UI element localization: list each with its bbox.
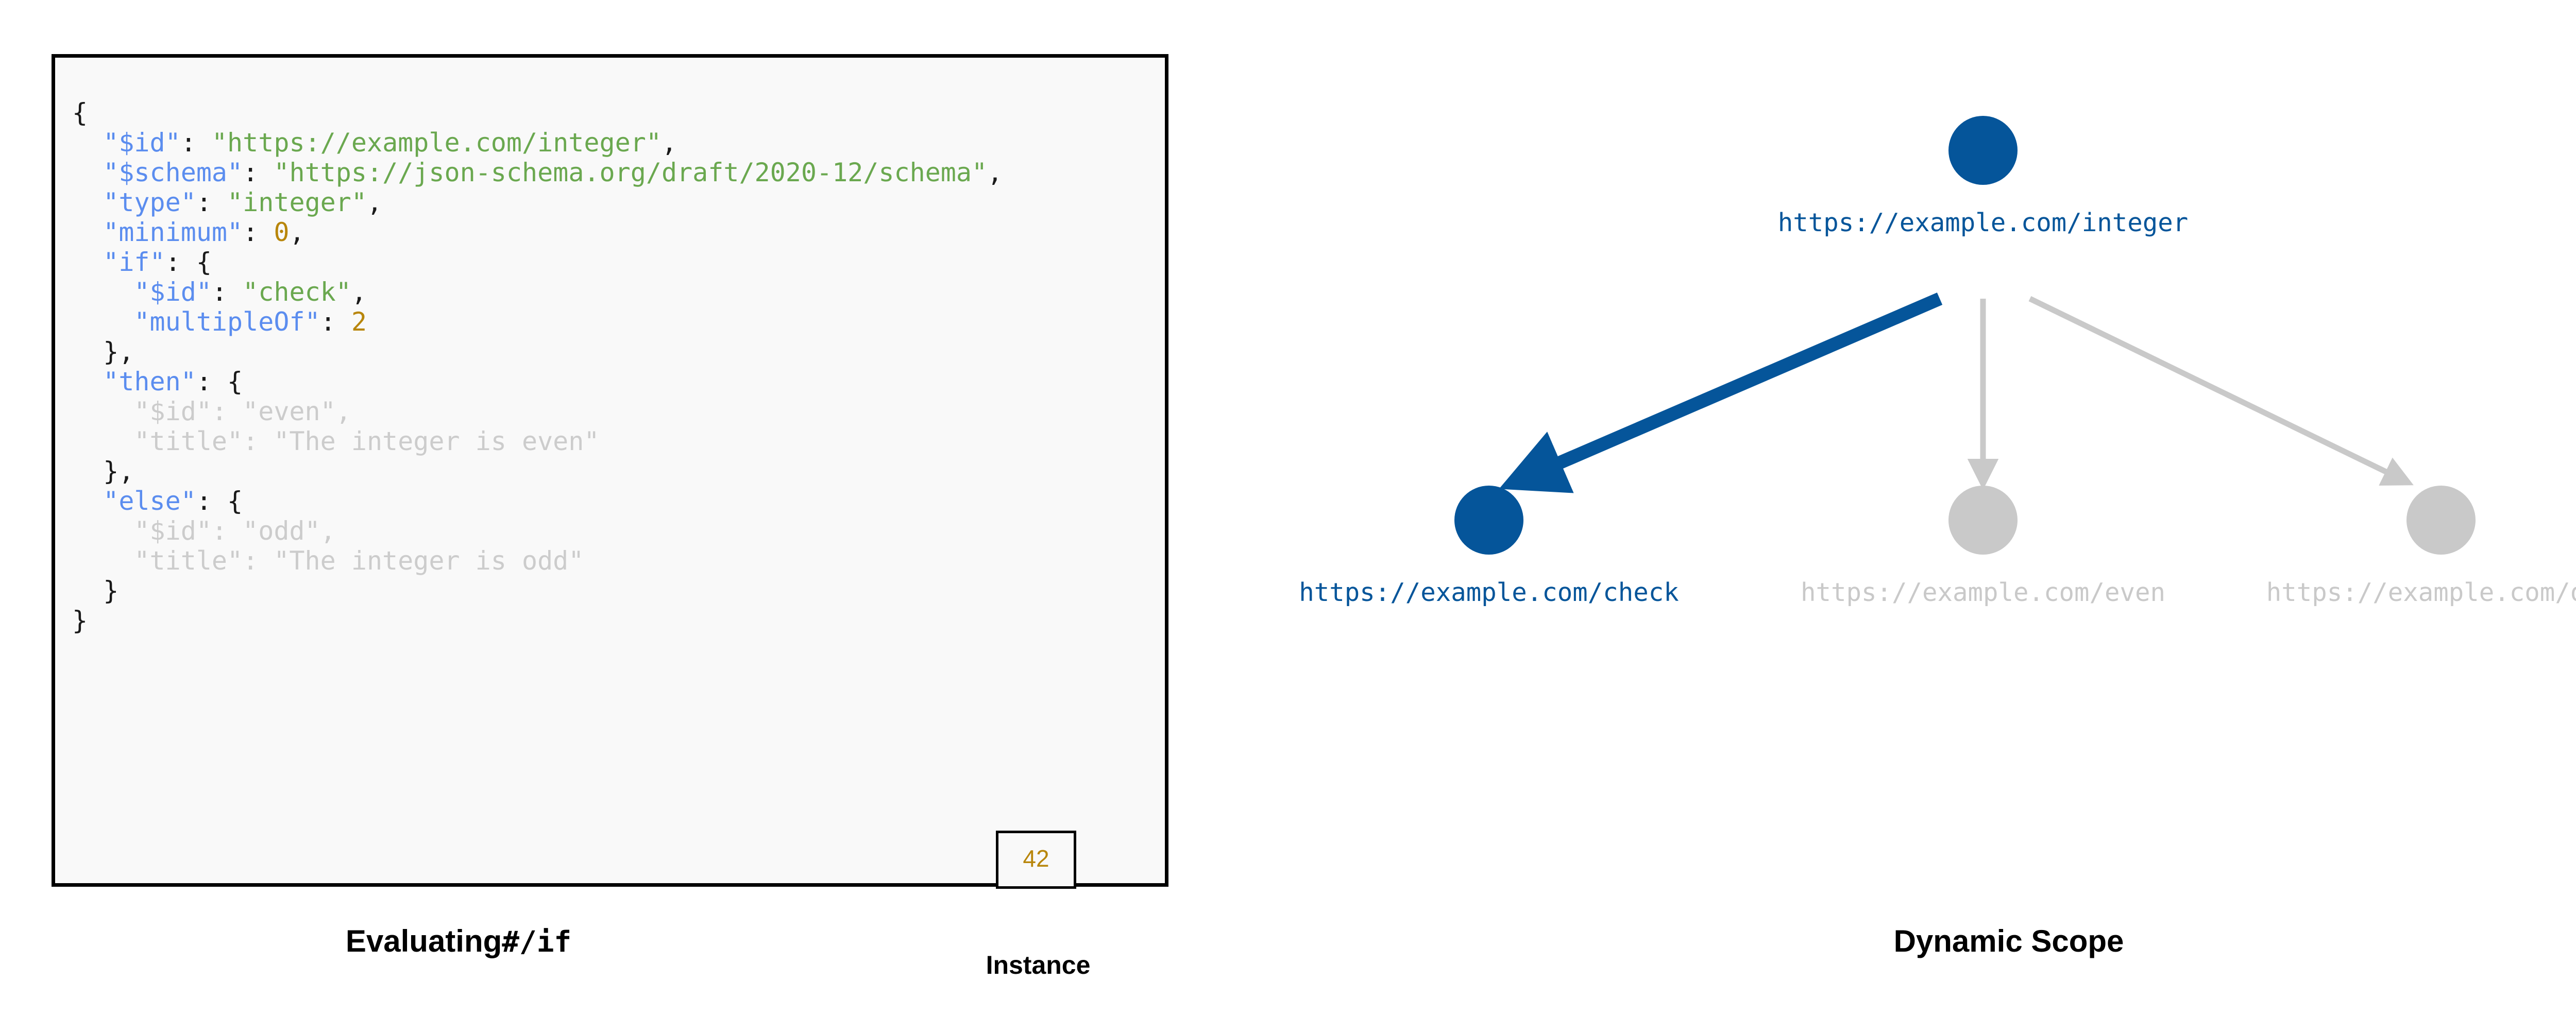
code-token-punc	[72, 247, 103, 277]
code-line: "if": {	[72, 247, 1164, 277]
graph-edges	[1516, 299, 2406, 481]
code-token-punc: },	[72, 456, 134, 486]
code-line: "$id": "even",	[72, 397, 1164, 426]
code-line: },	[72, 456, 1164, 486]
code-token-punc: : {	[196, 486, 243, 516]
evaluating-caption-word: Evaluating	[346, 924, 502, 958]
code-token-str: "check"	[243, 277, 351, 307]
instance-box: 42	[996, 831, 1076, 889]
graph-node-label-odd: https://example.com/odd	[2266, 578, 2576, 607]
code-token-str: "https://example.com/integer"	[212, 128, 662, 158]
code-token-punc: }	[72, 576, 118, 606]
code-token-key: "$schema"	[103, 158, 243, 187]
code-line: "else": {	[72, 486, 1164, 516]
code-token-dim: "$id": "even",	[72, 397, 351, 426]
code-token-num: 2	[351, 307, 367, 337]
code-line: },	[72, 337, 1164, 367]
code-token-punc: :	[243, 217, 274, 247]
code-token-key: "minimum"	[103, 217, 243, 247]
code-token-punc	[72, 486, 103, 516]
graph-node-label-integer: https://example.com/integer	[1778, 208, 2189, 237]
code-token-punc	[72, 128, 103, 158]
dynamic-scope-graph	[1185, 0, 2576, 906]
code-token-punc: }	[72, 606, 88, 635]
code-token-punc: :	[243, 158, 274, 187]
code-token-punc	[72, 158, 103, 187]
code-token-punc: ,	[662, 128, 677, 158]
schema-code-listing: { "$id": "https://example.com/integer", …	[72, 98, 1164, 635]
code-token-punc: :	[196, 187, 227, 217]
code-token-punc: : {	[165, 247, 212, 277]
code-token-key: "type"	[103, 187, 196, 217]
graph-node-label-check: https://example.com/check	[1299, 578, 1679, 607]
code-token-punc	[72, 277, 134, 307]
graph-node-check[interactable]	[1454, 486, 1523, 555]
code-token-dim: "title": "The integer is even"	[72, 426, 600, 456]
code-token-key: "$id"	[103, 128, 181, 158]
code-token-punc: :	[320, 307, 351, 337]
graph-edge-integer-to-odd	[2030, 299, 2406, 481]
code-token-key: "else"	[103, 486, 196, 516]
code-token-punc	[72, 217, 103, 247]
code-token-punc: ,	[351, 277, 367, 307]
graph-edge-integer-to-check	[1516, 299, 1940, 481]
evaluating-caption: Evaluating#/if	[57, 923, 860, 959]
code-token-key: "multipleOf"	[134, 307, 320, 337]
dynamic-scope-caption: Dynamic Scope	[1494, 923, 2524, 959]
code-token-punc	[72, 307, 134, 337]
graph-node-integer[interactable]	[1948, 116, 2018, 185]
code-token-punc: ,	[367, 187, 382, 217]
code-token-str: "https://json-schema.org/draft/2020-12/s…	[274, 158, 987, 187]
code-token-key: "if"	[103, 247, 165, 277]
code-line: {	[72, 98, 1164, 128]
evaluating-caption-pointer: #/if	[502, 925, 571, 959]
code-line: "$id": "check",	[72, 277, 1164, 307]
graph-node-label-even: https://example.com/even	[1801, 578, 2165, 607]
code-line: "$schema": "https://json-schema.org/draf…	[72, 158, 1164, 187]
code-token-dim: "title": "The integer is odd"	[72, 546, 584, 576]
code-token-str: "integer"	[227, 187, 367, 217]
code-token-punc: ,	[987, 158, 1003, 187]
code-line: "$id": "odd",	[72, 516, 1164, 546]
code-token-punc: :	[212, 277, 243, 307]
code-line: "minimum": 0,	[72, 217, 1164, 247]
code-token-punc: ,	[289, 217, 304, 247]
graph-node-odd[interactable]	[2406, 486, 2476, 555]
code-line: "type": "integer",	[72, 187, 1164, 217]
code-token-punc: : {	[196, 367, 243, 397]
code-token-punc	[72, 367, 103, 397]
graph-node-even[interactable]	[1948, 486, 2018, 555]
instance-caption: Instance	[948, 950, 1128, 980]
code-line: "then": {	[72, 367, 1164, 397]
code-token-punc: :	[181, 128, 212, 158]
code-token-key: "then"	[103, 367, 196, 397]
code-token-dim: "$id": "odd",	[72, 516, 336, 546]
code-token-num: 0	[274, 217, 289, 247]
code-line: "$id": "https://example.com/integer",	[72, 128, 1164, 158]
code-token-key: "$id"	[134, 277, 212, 307]
code-token-punc: },	[72, 337, 134, 367]
code-token-punc	[72, 187, 103, 217]
code-token-punc: {	[72, 98, 88, 128]
code-line: "multipleOf": 2	[72, 307, 1164, 337]
dynamic-scope-panel: https://example.com/integerhttps://examp…	[1185, 0, 2576, 1033]
instance-value: 42	[998, 845, 1074, 872]
evaluating-schema-panel: { "$id": "https://example.com/integer", …	[0, 0, 1185, 1033]
code-line: "title": "The integer is even"	[72, 426, 1164, 456]
graph-nodes	[1454, 116, 2476, 555]
code-line: "title": "The integer is odd"	[72, 546, 1164, 576]
code-line: }	[72, 576, 1164, 606]
code-line: }	[72, 606, 1164, 635]
